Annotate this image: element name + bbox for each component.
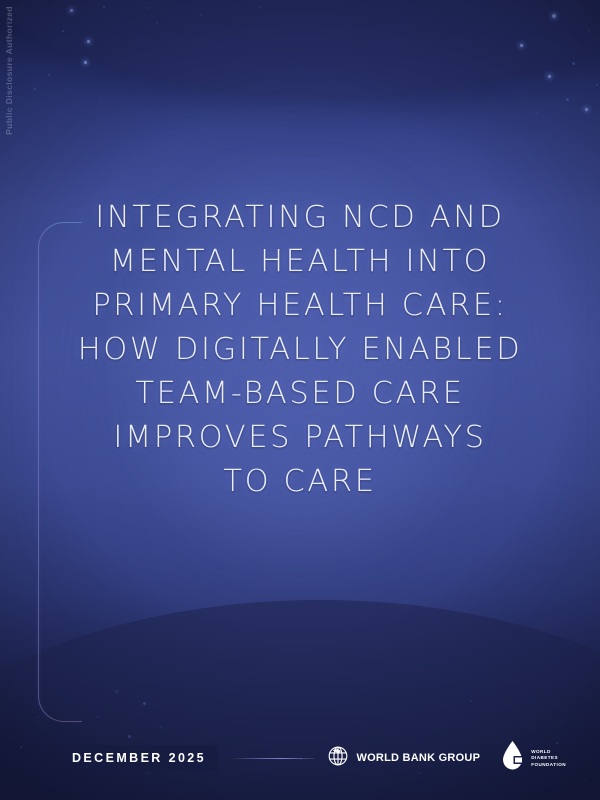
wdf-line: WORLD [531,749,566,755]
footer-divider-rule [230,758,315,759]
title-line: IMPROVES PATHWAYS [34,416,566,460]
title-line: TEAM-BASED CARE [34,372,566,416]
logo-world-diabetes-foundation-label: WORLD DIABETES FOUNDATION [531,749,566,768]
title-line: INTEGRATING NCD AND [34,196,566,240]
wdf-line: FOUNDATION [531,762,566,768]
page-title: INTEGRATING NCD AND MENTAL HEALTH INTO P… [0,196,600,504]
logo-group: WORLD BANK GROUP WORLD DIABETES FOUNDATI… [327,740,566,776]
title-line: PRIMARY HEALTH CARE: [34,284,566,328]
title-line: HOW DIGITALLY ENABLED [34,328,566,372]
public-disclosure-stamp: Public Disclosure Authorized [4,6,14,135]
document-cover: Public Disclosure Authorized INTEGRATING… [0,0,600,800]
title-line: TO CARE [34,460,566,504]
water-drop-icon [500,740,525,776]
logo-world-diabetes-foundation: WORLD DIABETES FOUNDATION [500,740,566,776]
cover-footer: DECEMBER 2025 [0,742,600,774]
publication-date: DECEMBER 2025 [70,745,218,771]
logo-world-bank-group-label: WORLD BANK GROUP [356,752,480,764]
title-line: MENTAL HEALTH INTO [34,240,566,284]
wdf-line: DIABETES [531,755,566,761]
globe-icon [327,745,349,772]
logo-world-bank-group: WORLD BANK GROUP [327,745,480,772]
